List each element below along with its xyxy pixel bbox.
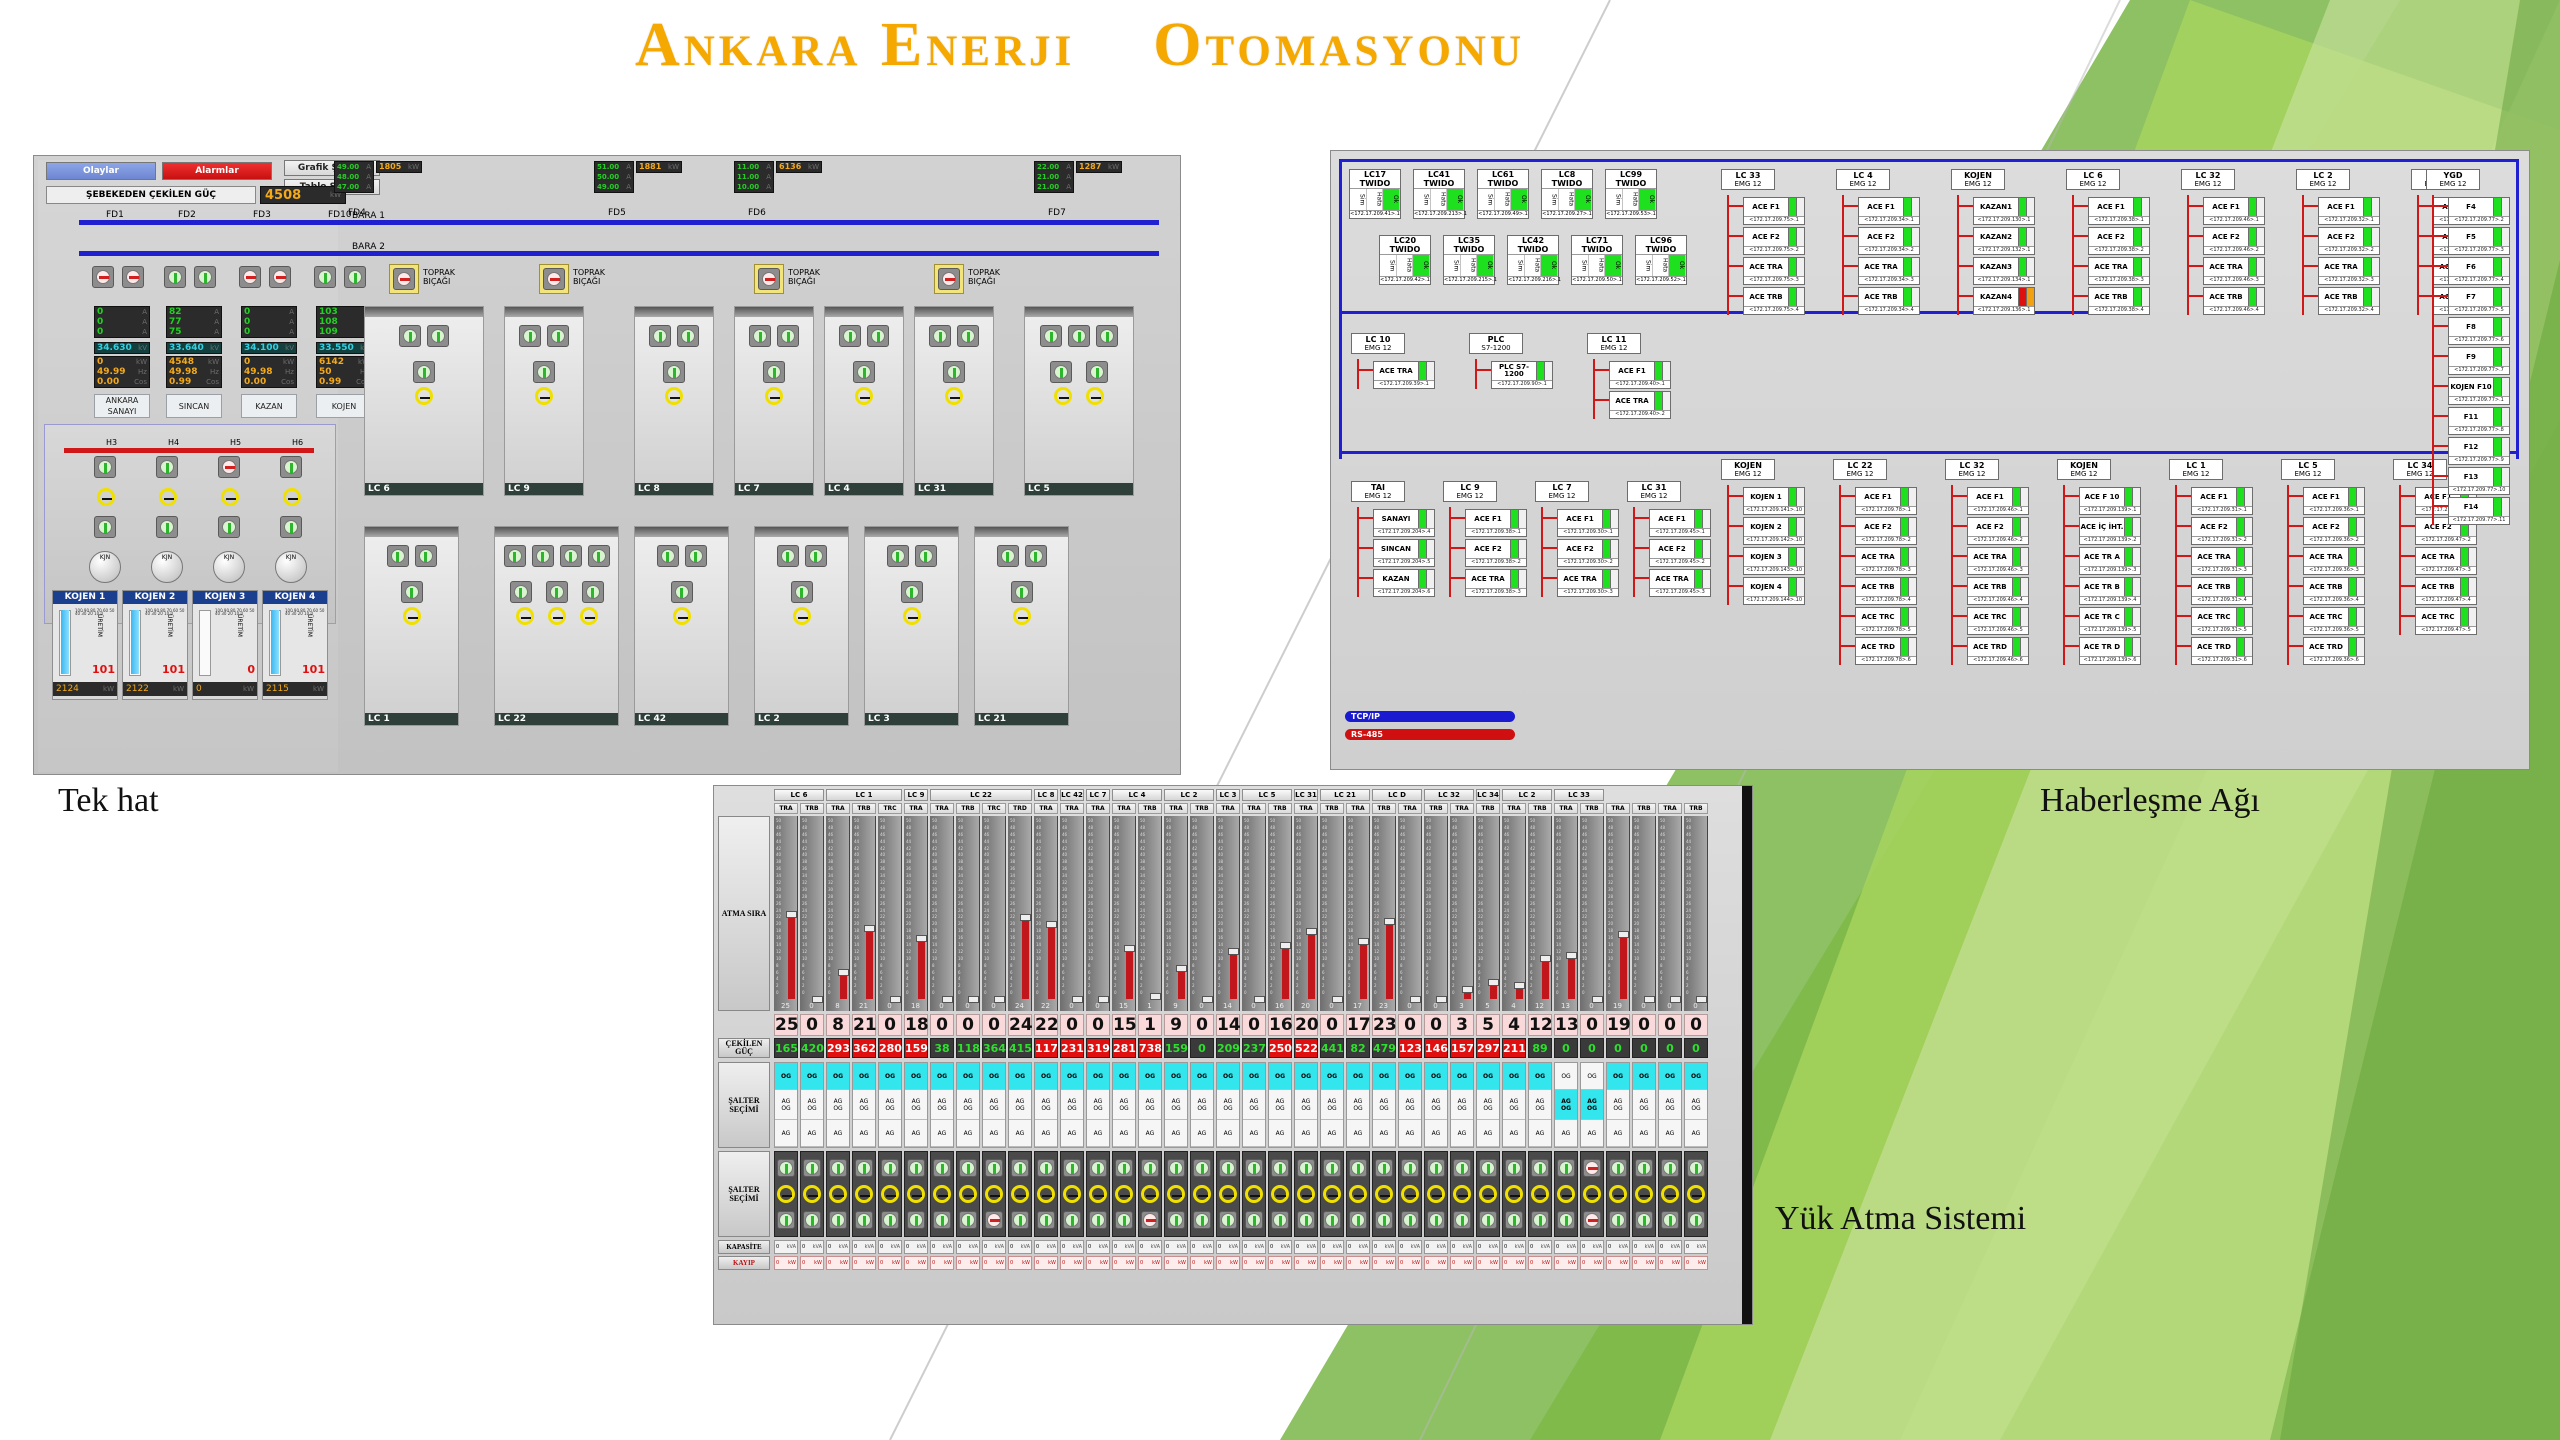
selector-option-OG-14[interactable]: OG [1139,1063,1161,1090]
selector-8[interactable]: OGAG OGAG [982,1062,1006,1148]
device-ACE-TRA[interactable]: ACE TRA<172.17.209.39>.1 [1373,361,1435,389]
device-F12[interactable]: F12<172.17.209.77>.9 [2448,437,2510,465]
slider-knob-23[interactable] [1384,918,1395,925]
mimic-breaker-bottom-33[interactable] [1635,1211,1653,1229]
cubicle-lc-5[interactable]: LC 5 [1024,306,1134,496]
mimic-earth-2[interactable] [829,1185,847,1203]
selector-option-OG-10[interactable]: OG [1035,1063,1057,1090]
cubicle-lc-31-breaker-0[interactable] [929,325,951,347]
device-ACE-F1[interactable]: ACE F1<172.17.209.31>.1 [2191,487,2253,515]
cubicle-lc-7[interactable]: LC 7 [734,306,814,496]
device-ACE-F2[interactable]: ACE F2<172.17.209.38>.2 [1465,539,1527,567]
mimic-breaker-top-1[interactable] [803,1159,821,1177]
mimic-earth-33[interactable] [1635,1185,1653,1203]
cubicle-earth-0[interactable] [945,387,963,405]
mimic-breaker-bottom-25[interactable] [1427,1211,1445,1229]
mimic-earth-11[interactable] [1063,1185,1081,1203]
device-KAZAN[interactable]: KAZAN<172.17.209.204>.6 [1373,569,1435,597]
slider-knob-14[interactable] [1150,993,1161,1000]
selector-23[interactable]: OGAG OGAG [1372,1062,1396,1148]
selector-option-OG-0[interactable]: OG [775,1063,797,1090]
slider-knob-20[interactable] [1306,928,1317,935]
mimic-breaker-top-6[interactable] [933,1159,951,1177]
selector-option-OG-35[interactable]: OG [1685,1063,1707,1090]
slider-column-23[interactable]: 5048464442403836343230282624222018161412… [1372,816,1396,1011]
mimic-breaker-bottom-5[interactable] [907,1211,925,1229]
selector-25[interactable]: OGAG OGAG [1424,1062,1448,1148]
mimic-breaker-bottom-28[interactable] [1505,1211,1523,1229]
slider-knob-5[interactable] [916,935,927,942]
selector-option-OG-2[interactable]: OG [827,1063,849,1090]
cubicle-lc-4-breaker-1[interactable] [867,325,889,347]
cubicle2-lc-3-lower-breaker-0[interactable] [901,581,923,603]
selector-17[interactable]: OGAG OGAG [1216,1062,1240,1148]
single-line-diagram-panel[interactable]: OlaylarAlarmlarGrafik ŞablonTablo Şablon… [33,155,1181,775]
twido-node-LC20[interactable]: LC20TWIDOSimHataOk<172.17.209.42>.1 [1379,235,1431,285]
mimic-breaker-top-7[interactable] [959,1159,977,1177]
cubicle2-lc-22[interactable]: LC 22 [494,526,619,726]
selector-option-OG-8[interactable]: OG [983,1063,1005,1090]
mimic-earth-32[interactable] [1609,1185,1627,1203]
twido-node-LC8[interactable]: LC8TWIDOSimHataOk<172.17.209.27>.1 [1541,169,1593,219]
mimic-earth-0[interactable] [777,1185,795,1203]
selector-28[interactable]: OGAG OGAG [1502,1062,1526,1148]
mimic-breaker-top-21[interactable] [1323,1159,1341,1177]
group-node-LC-31[interactable]: LC 31EMG 12 [1627,481,1681,502]
mimic-earth-8[interactable] [985,1185,1003,1203]
gen-breaker-top-0[interactable] [94,456,116,478]
slider-column-33[interactable]: 5048464442403836343230282624222018161412… [1632,816,1656,1011]
breaker-mimic-15[interactable] [1164,1151,1188,1237]
selector-option-AG-OG-24[interactable]: AG OG [1399,1090,1421,1120]
selector-option-AG-31[interactable]: AG [1581,1120,1603,1147]
mimic-earth-4[interactable] [881,1185,899,1203]
breaker-mimic-21[interactable] [1320,1151,1344,1237]
selector-option-OG-20[interactable]: OG [1295,1063,1317,1090]
cubicle-lc-7-lower-breaker-0[interactable] [763,361,785,383]
mimic-earth-30[interactable] [1557,1185,1575,1203]
mimic-earth-12[interactable] [1089,1185,1107,1203]
slider-column-24[interactable]: 5048464442403836343230282624222018161412… [1398,816,1422,1011]
device-SANAYI[interactable]: SANAYI<172.17.209.204>.4 [1373,509,1435,537]
generator-card-3[interactable]: KOJEN 4100 90 80 70 60 50 40 30 20 10 0Ü… [262,590,328,700]
cubicle-lc-5-breaker-1[interactable] [1068,325,1090,347]
device-KAZAN4[interactable]: KAZAN4<172.17.209.136>.1 [1973,287,2035,315]
selector-option-AG-OG-27[interactable]: AG OG [1477,1090,1499,1120]
gen-earth-3[interactable] [283,488,301,506]
cubicle-lc-6[interactable]: LC 6 [364,306,484,496]
device-ACE-TRC[interactable]: ACE TRC<172.17.209.46>.5 [1967,607,2029,635]
selector-option-OG-24[interactable]: OG [1399,1063,1421,1090]
mimic-breaker-top-17[interactable] [1219,1159,1237,1177]
selector-option-AG-13[interactable]: AG [1113,1120,1135,1147]
breaker-mimic-34[interactable] [1658,1151,1682,1237]
twido-node-LC71[interactable]: LC71TWIDOSimHataOk<172.17.209.50>.1 [1571,235,1623,285]
mimic-breaker-bottom-8[interactable] [985,1211,1003,1229]
slider-column-35[interactable]: 5048464442403836343230282624222018161412… [1684,816,1708,1011]
mimic-breaker-bottom-19[interactable] [1271,1211,1289,1229]
breaker-mimic-1[interactable] [800,1151,824,1237]
mimic-earth-14[interactable] [1141,1185,1159,1203]
mimic-breaker-top-10[interactable] [1037,1159,1055,1177]
device-SINCAN[interactable]: SINCAN<172.17.209.204>.5 [1373,539,1435,567]
device-ACE-F-10[interactable]: ACE F 10<172.17.209.139>.1 [2079,487,2141,515]
mimic-breaker-bottom-4[interactable] [881,1211,899,1229]
device-ACE-F1[interactable]: ACE F1<172.17.209.30>.1 [1557,509,1619,537]
cubicle2-lc-2-lower-breaker-0[interactable] [791,581,813,603]
slider-knob-2[interactable] [838,969,849,976]
gen-breaker-bot-1[interactable] [156,516,178,538]
selector-20[interactable]: OGAG OGAG [1294,1062,1318,1148]
mimic-breaker-bottom-29[interactable] [1531,1211,1549,1229]
cubicle2-lc-2-breaker-0[interactable] [777,545,799,567]
mimic-breaker-bottom-23[interactable] [1375,1211,1393,1229]
selector-30[interactable]: OGAG OGAG [1554,1062,1578,1148]
earth-switch-2[interactable] [539,264,569,294]
generator-card-2[interactable]: KOJEN 3100 90 80 70 60 50 40 30 20 10 0Ü… [192,590,258,700]
mimic-breaker-top-34[interactable] [1661,1159,1679,1177]
selector-option-OG-11[interactable]: OG [1061,1063,1083,1090]
cubicle-lc-31-breaker-1[interactable] [957,325,979,347]
slider-knob-10[interactable] [1046,921,1057,928]
slider-knob-19[interactable] [1280,942,1291,949]
cubicle-lc-6-lower-breaker-0[interactable] [413,361,435,383]
selector-option-AG-OG-23[interactable]: AG OG [1373,1090,1395,1120]
cubicle-lc-7-breaker-1[interactable] [777,325,799,347]
breaker-FD1-0[interactable] [92,266,114,288]
slider-knob-3[interactable] [864,925,875,932]
selector-option-OG-5[interactable]: OG [905,1063,927,1090]
selector-option-AG-34[interactable]: AG [1659,1120,1681,1147]
group-node-LC-4[interactable]: LC 4EMG 12 [1836,169,1890,190]
selector-option-AG-OG-12[interactable]: AG OG [1087,1090,1109,1120]
selector-option-AG-OG-9[interactable]: AG OG [1009,1090,1031,1120]
selector-3[interactable]: OGAG OGAG [852,1062,876,1148]
breaker-mimic-5[interactable] [904,1151,928,1237]
selector-option-AG-0[interactable]: AG [775,1120,797,1147]
gen-earth-2[interactable] [221,488,239,506]
device-ACE-TRB[interactable]: ACE TRB<172.17.209.46>.4 [2203,287,2265,315]
cubicle-lc-6-breaker-0[interactable] [399,325,421,347]
communication-network-panel[interactable]: LC17TWIDOSimHataOk<172.17.209.41>.1LC41T… [1330,150,2530,770]
cubicle2-lc-22-lower-breaker-2[interactable] [582,581,604,603]
cubicle-lc-4-breaker-0[interactable] [839,325,861,347]
selector-option-AG-OG-26[interactable]: AG OG [1451,1090,1473,1120]
device-KOJEN-1[interactable]: KOJEN 1<172.17.209.141>.10 [1743,487,1805,515]
selector-34[interactable]: OGAG OGAG [1658,1062,1682,1148]
gen-breaker-top-1[interactable] [156,456,178,478]
selector-option-AG-OG-11[interactable]: AG OG [1061,1090,1083,1120]
cubicle-earth-0[interactable] [1054,387,1072,405]
cubicle-earth-0[interactable] [415,387,433,405]
group-node-LC-5[interactable]: LC 5EMG 12 [2281,459,2335,480]
device-ACE-F1[interactable]: ACE F1<172.17.209.45>.1 [1649,509,1711,537]
selector-option-AG-19[interactable]: AG [1269,1120,1291,1147]
cubicle-lc-5-lower-breaker-1[interactable] [1086,361,1108,383]
device-ACE-F1[interactable]: ACE F1<172.17.209.75>.1 [1743,197,1805,225]
breaker-mimic-18[interactable] [1242,1151,1266,1237]
mimic-breaker-top-33[interactable] [1635,1159,1653,1177]
selector-option-AG-7[interactable]: AG [957,1120,979,1147]
breaker-mimic-31[interactable] [1580,1151,1604,1237]
group-node-PLC[interactable]: PLCS7-1200 [1469,333,1523,354]
device-ACE-F1[interactable]: ACE F1<172.17.209.40>.1 [1609,361,1671,389]
selector-option-OG-3[interactable]: OG [853,1063,875,1090]
earth-switch-4[interactable] [934,264,964,294]
breaker-mimic-19[interactable] [1268,1151,1292,1237]
device-ACE-F1[interactable]: ACE F1<172.17.209.32>.1 [2318,197,2380,225]
selector-option-AG-OG-28[interactable]: AG OG [1503,1090,1525,1120]
mimic-breaker-bottom-17[interactable] [1219,1211,1237,1229]
slider-knob-22[interactable] [1358,938,1369,945]
mimic-breaker-bottom-3[interactable] [855,1211,873,1229]
mimic-earth-15[interactable] [1167,1185,1185,1203]
selector-option-AG-14[interactable]: AG [1139,1120,1161,1147]
group-node-LC-9[interactable]: LC 9EMG 12 [1443,481,1497,502]
device-ACE-TRA[interactable]: ACE TRA<172.17.209.38>.3 [1465,569,1527,597]
slider-knob-29[interactable] [1540,955,1551,962]
device-ACE-F2[interactable]: ACE F2<172.17.209.32>.2 [2318,227,2380,255]
cubicle-earth-1[interactable] [548,607,566,625]
selector-option-AG-11[interactable]: AG [1061,1120,1083,1147]
mimic-breaker-top-30[interactable] [1557,1159,1575,1177]
group-node-LC-22[interactable]: LC 22EMG 12 [1833,459,1887,480]
slider-column-3[interactable]: 5048464442403836343230282624222018161412… [852,816,876,1011]
slider-column-22[interactable]: 5048464442403836343230282624222018161412… [1346,816,1370,1011]
cubicle-lc-31-lower-breaker-0[interactable] [943,361,965,383]
slider-column-0[interactable]: 5048464442403836343230282624222018161412… [774,816,798,1011]
group-node-LC-1[interactable]: LC 1EMG 12 [2169,459,2223,480]
mimic-earth-3[interactable] [855,1185,873,1203]
selector-option-AG-OG-18[interactable]: AG OG [1243,1090,1265,1120]
cubicle2-lc-3[interactable]: LC 3 [864,526,959,726]
earth-switch-1[interactable] [389,264,419,294]
selector-2[interactable]: OGAG OGAG [826,1062,850,1148]
cubicle-earth-1[interactable] [1086,387,1104,405]
cubicle2-lc-42[interactable]: LC 42 [634,526,729,726]
mimic-breaker-top-16[interactable] [1193,1159,1211,1177]
earth-switch-symbol-2[interactable] [543,268,565,290]
slider-knob-27[interactable] [1488,979,1499,986]
device-ACE-TRA[interactable]: ACE TRA<172.17.209.45>.3 [1649,569,1711,597]
device-F7[interactable]: F7<172.17.209.77>.5 [2448,287,2510,315]
cubicle2-lc-21-breaker-1[interactable] [1025,545,1047,567]
device-F14[interactable]: F14<172.17.209.77>.11 [2448,497,2510,525]
selector-option-OG-30[interactable]: OG [1555,1063,1577,1090]
selector-5[interactable]: OGAG OGAG [904,1062,928,1148]
selector-7[interactable]: OGAG OGAG [956,1062,980,1148]
device-PLC-S7-1200[interactable]: PLC S7-1200<172.17.209.90>.1 [1491,361,1553,389]
cubicle-earth-0[interactable] [855,387,873,405]
mimic-breaker-top-35[interactable] [1687,1159,1705,1177]
device-ACE-F1[interactable]: ACE F1<172.17.209.34>.1 [1858,197,1920,225]
device-KOJEN-3[interactable]: KOJEN 3<172.17.209.143>.10 [1743,547,1805,575]
mimic-earth-31[interactable] [1583,1185,1601,1203]
slider-column-8[interactable]: 5048464442403836343230282624222018161412… [982,816,1006,1011]
cubicle2-lc-1-breaker-0[interactable] [387,545,409,567]
selector-27[interactable]: OGAG OGAG [1476,1062,1500,1148]
selector-option-OG-9[interactable]: OG [1009,1063,1031,1090]
mimic-earth-34[interactable] [1661,1185,1679,1203]
selector-option-AG-26[interactable]: AG [1451,1120,1473,1147]
cubicle-lc-4[interactable]: LC 4 [824,306,904,496]
selector-option-AG-OG-33[interactable]: AG OG [1633,1090,1655,1120]
slider-column-21[interactable]: 5048464442403836343230282624222018161412… [1320,816,1344,1011]
device-ACE-İÇ-İHT-[interactable]: ACE İÇ İHT.<172.17.209.139>.2 [2079,517,2141,545]
slider-column-34[interactable]: 5048464442403836343230282624222018161412… [1658,816,1682,1011]
twido-node-LC61[interactable]: LC61TWIDOSimHataOk<172.17.209.49>.1 [1477,169,1529,219]
device-ACE-F1[interactable]: ACE F1<172.17.209.36>.1 [2303,487,2365,515]
selector-option-AG-8[interactable]: AG [983,1120,1005,1147]
selector-option-AG-20[interactable]: AG [1295,1120,1317,1147]
breaker-mimic-30[interactable] [1554,1151,1578,1237]
cubicle-earth-0[interactable] [535,387,553,405]
device-ACE-F1[interactable]: ACE F1<172.17.209.38>.1 [1465,509,1527,537]
selector-19[interactable]: OGAG OGAG [1268,1062,1292,1148]
selector-option-OG-29[interactable]: OG [1529,1063,1551,1090]
breaker-mimic-4[interactable] [878,1151,902,1237]
button-olaylar[interactable]: Olaylar [46,162,156,180]
slider-column-4[interactable]: 5048464442403836343230282624222018161412… [878,816,902,1011]
cubicle-lc-5-breaker-2[interactable] [1096,325,1118,347]
slider-column-12[interactable]: 5048464442403836343230282624222018161412… [1086,816,1110,1011]
group-node-YGD[interactable]: YGDEMG 12 [2426,169,2480,190]
selector-option-AG-29[interactable]: AG [1529,1120,1551,1147]
mimic-earth-21[interactable] [1323,1185,1341,1203]
selector-option-AG-OG-29[interactable]: AG OG [1529,1090,1551,1120]
device-ACE-TRB[interactable]: ACE TRB<172.17.209.31>.4 [2191,577,2253,605]
mimic-breaker-top-12[interactable] [1089,1159,1107,1177]
cubicle2-lc-22-lower-breaker-1[interactable] [546,581,568,603]
group-node-KOJEN[interactable]: KOJENEMG 12 [1721,459,1775,480]
breaker-mimic-23[interactable] [1372,1151,1396,1237]
mimic-earth-23[interactable] [1375,1185,1393,1203]
selector-option-OG-15[interactable]: OG [1165,1063,1187,1090]
mimic-breaker-top-4[interactable] [881,1159,899,1177]
cubicle2-lc-42-lower-breaker-0[interactable] [671,581,693,603]
slider-knob-28[interactable] [1514,982,1525,989]
selector-option-OG-13[interactable]: OG [1113,1063,1135,1090]
device-KOJEN-4[interactable]: KOJEN 4<172.17.209.144>.10 [1743,577,1805,605]
cubicle2-lc-2-breaker-1[interactable] [805,545,827,567]
slider-knob-15[interactable] [1176,965,1187,972]
selector-option-OG-22[interactable]: OG [1347,1063,1369,1090]
cubicle-lc-8[interactable]: LC 8 [634,306,714,496]
breaker-mimic-33[interactable] [1632,1151,1656,1237]
mimic-earth-35[interactable] [1687,1185,1705,1203]
cubicle-lc-6-breaker-1[interactable] [427,325,449,347]
mimic-breaker-top-20[interactable] [1297,1159,1315,1177]
mimic-breaker-bottom-16[interactable] [1193,1211,1211,1229]
generator-card-0[interactable]: KOJEN 1100 90 80 70 60 50 40 30 20 10 0Ü… [52,590,118,700]
selector-option-OG-19[interactable]: OG [1269,1063,1291,1090]
device-ACE-TRC[interactable]: ACE TRC<172.17.209.31>.5 [2191,607,2253,635]
mimic-breaker-top-28[interactable] [1505,1159,1523,1177]
cubicle2-lc-21[interactable]: LC 21 [974,526,1069,726]
device-ACE-TR-B[interactable]: ACE TR B<172.17.209.139>.4 [2079,577,2141,605]
gen-breaker-bot-0[interactable] [94,516,116,538]
selector-option-OG-23[interactable]: OG [1373,1063,1395,1090]
mimic-breaker-bottom-1[interactable] [803,1211,821,1229]
selector-option-AG-OG-30[interactable]: AG OG [1555,1090,1577,1120]
selector-option-AG-OG-17[interactable]: AG OG [1217,1090,1239,1120]
breaker-mimic-16[interactable] [1190,1151,1214,1237]
device-ACE-TRB[interactable]: ACE TRB<172.17.209.38>.4 [2088,287,2150,315]
selector-24[interactable]: OGAG OGAG [1398,1062,1422,1148]
selector-option-AG-15[interactable]: AG [1165,1120,1187,1147]
mimic-breaker-bottom-15[interactable] [1167,1211,1185,1229]
gen-earth-1[interactable] [159,488,177,506]
mimic-breaker-top-13[interactable] [1115,1159,1133,1177]
breaker-mimic-13[interactable] [1112,1151,1136,1237]
selector-option-AG-17[interactable]: AG [1217,1120,1239,1147]
selector-option-OG-12[interactable]: OG [1087,1063,1109,1090]
cubicle2-lc-3-breaker-0[interactable] [887,545,909,567]
cubicle2-lc-22-breaker-2[interactable] [560,545,582,567]
earth-switch-symbol-4[interactable] [938,268,960,290]
cubicle-earth-0[interactable] [765,387,783,405]
gen-breaker-top-2[interactable] [218,456,240,478]
selector-option-OG-6[interactable]: OG [931,1063,953,1090]
breaker-mimic-6[interactable] [930,1151,954,1237]
selector-option-OG-34[interactable]: OG [1659,1063,1681,1090]
device-ACE-F2[interactable]: ACE F2<172.17.209.75>.2 [1743,227,1805,255]
group-node-LC-7[interactable]: LC 7EMG 12 [1535,481,1589,502]
mimic-breaker-top-2[interactable] [829,1159,847,1177]
selector-option-AG-OG-10[interactable]: AG OG [1035,1090,1057,1120]
selector-option-AG-OG-32[interactable]: AG OG [1607,1090,1629,1120]
selector-option-AG-35[interactable]: AG [1685,1120,1707,1147]
selector-option-AG-OG-21[interactable]: AG OG [1321,1090,1343,1120]
selector-option-AG-OG-25[interactable]: AG OG [1425,1090,1447,1120]
selector-option-OG-28[interactable]: OG [1503,1063,1525,1090]
selector-31[interactable]: OGAG OGAG [1580,1062,1604,1148]
device-ACE-F1[interactable]: ACE F1<172.17.209.78>.1 [1855,487,1917,515]
cubicle2-lc-21-breaker-0[interactable] [997,545,1019,567]
cubicle-earth-2[interactable] [580,607,598,625]
mimic-breaker-top-9[interactable] [1011,1159,1029,1177]
group-node-LC-11[interactable]: LC 11EMG 12 [1587,333,1641,354]
device-ACE-TRD[interactable]: ACE TRD<172.17.209.31>.6 [2191,637,2253,665]
mimic-earth-5[interactable] [907,1185,925,1203]
selector-32[interactable]: OGAG OGAG [1606,1062,1630,1148]
mimic-breaker-bottom-26[interactable] [1453,1211,1471,1229]
selector-option-AG-30[interactable]: AG [1555,1120,1577,1147]
mimic-earth-10[interactable] [1037,1185,1055,1203]
mimic-earth-1[interactable] [803,1185,821,1203]
device-ACE-TRA[interactable]: ACE TRA<172.17.209.46>.3 [2203,257,2265,285]
device-ACE-TRB[interactable]: ACE TRB<172.17.209.78>.4 [1855,577,1917,605]
device-ACE-TRA[interactable]: ACE TRA<172.17.209.31>.3 [2191,547,2253,575]
selector-0[interactable]: OGAG OGAG [774,1062,798,1148]
slider-column-14[interactable]: 5048464442403836343230282624222018161412… [1138,816,1162,1011]
selector-option-AG-10[interactable]: AG [1035,1120,1057,1147]
slider-column-5[interactable]: 5048464442403836343230282624222018161412… [904,816,928,1011]
group-node-LC-2[interactable]: LC 2EMG 12 [2296,169,2350,190]
device-ACE-TRD[interactable]: ACE TRD<172.17.209.46>.6 [1967,637,2029,665]
slider-knob-0[interactable] [786,911,797,918]
device-KAZAN3[interactable]: KAZAN3<172.17.209.134>.1 [1973,257,2035,285]
mimic-earth-6[interactable] [933,1185,951,1203]
selector-option-AG-OG-34[interactable]: AG OG [1659,1090,1681,1120]
slider-column-18[interactable]: 5048464442403836343230282624222018161412… [1242,816,1266,1011]
cubicle-earth-0[interactable] [665,387,683,405]
mimic-breaker-bottom-32[interactable] [1609,1211,1627,1229]
mimic-breaker-top-3[interactable] [855,1159,873,1177]
mimic-breaker-top-19[interactable] [1271,1159,1289,1177]
breaker-mimic-8[interactable] [982,1151,1006,1237]
device-ACE-TRA[interactable]: ACE TRA<172.17.209.34>.3 [1858,257,1920,285]
